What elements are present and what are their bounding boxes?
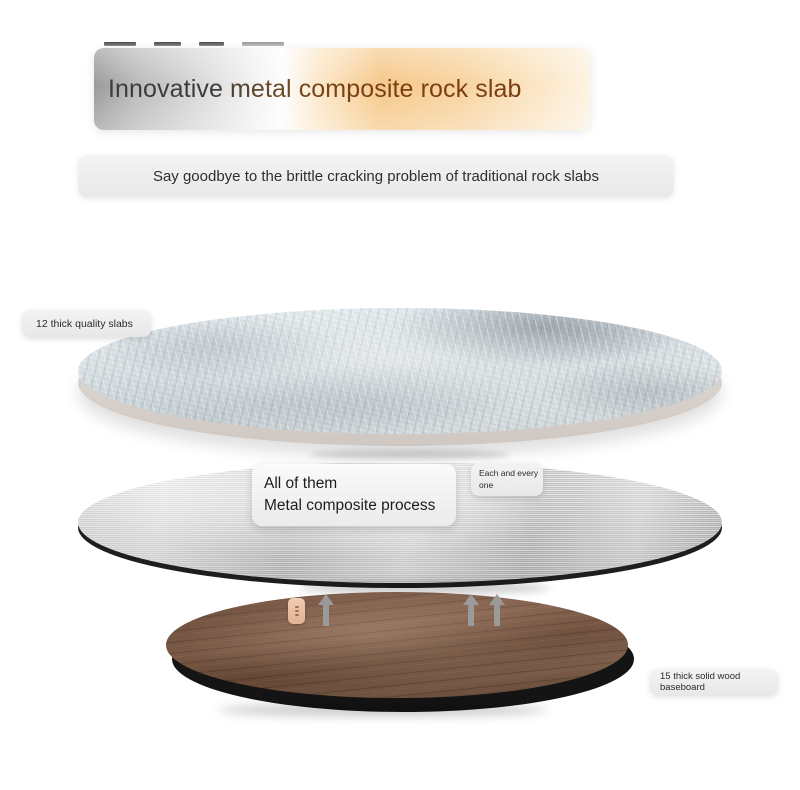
tan-marker-badge [288,598,305,624]
rock-slab-surface [78,308,722,434]
up-arrow-icon [318,594,334,626]
badge-mark-icon [295,614,299,616]
product-infographic-page: Innovative metal composite rock slab Say… [0,0,800,790]
rock-slab-shadow [310,450,510,459]
badge-mark-icon [295,606,299,608]
callout-each-and-every-one: Each and every one [471,463,543,496]
callout-metal-title: All of them [264,473,337,495]
page-title: Innovative metal composite rock slab [94,77,522,102]
callout-rock-slab: 12 thick quality slabs [22,310,151,337]
rock-slab-layer [78,308,722,458]
wood-baseboard-surface [166,592,628,698]
wood-baseboard-layer [166,592,634,716]
callout-metal-composite: All of them Metal composite process [252,464,456,526]
up-arrow-icon [489,594,505,626]
up-arrow-icon [463,594,479,626]
callout-metal-subtitle: Metal composite process [264,495,435,517]
wood-baseboard-shadow [218,704,548,716]
callout-wood-baseboard: 15 thick solid wood baseboard [650,669,778,695]
badge-mark-icon [295,610,299,612]
